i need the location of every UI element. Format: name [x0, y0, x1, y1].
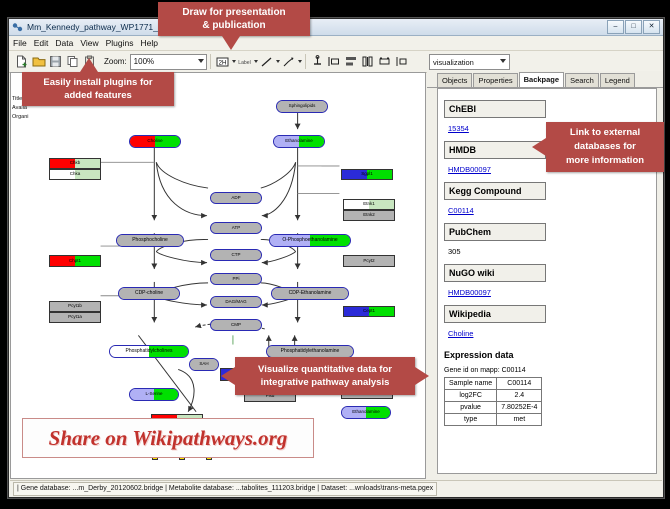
callout-links-line3: more information	[566, 154, 644, 168]
node-label: CMP	[231, 323, 241, 328]
node-label: O-Phosphoethanolamine	[282, 238, 337, 243]
pathway-node-etnk2[interactable]: Etnk2	[343, 210, 395, 221]
expression-gene-id: Gene id on mapp: C00114	[444, 367, 656, 374]
expression-data-heading: Expression data	[444, 350, 656, 360]
pathway-node-chka[interactable]: Chka	[49, 169, 101, 180]
node-label: Pcyt1b	[68, 304, 82, 309]
node-label: L-Serine	[145, 392, 162, 397]
expr-cell-key: Sample name	[445, 378, 497, 390]
pathway-node-l-serine[interactable]: L-Serine	[129, 388, 179, 401]
callout-draw-line1: Draw for presentation	[182, 6, 285, 19]
new-file-icon[interactable]	[13, 53, 30, 70]
svg-text:Label: Label	[238, 60, 250, 66]
callout-plugins-line2: added features	[43, 89, 152, 102]
toolbar-separator	[305, 54, 306, 69]
callout-links: Link to external databases for more info…	[546, 122, 664, 172]
node-label: Phosphocholine	[132, 238, 168, 243]
zoom-label: Zoom:	[104, 57, 127, 66]
callout-visualize: Visualize quantitative data for integrat…	[235, 357, 415, 395]
node-label: ATP	[232, 226, 240, 231]
callout-links-line1: Link to external	[566, 126, 644, 140]
pathway-node-cept1[interactable]: Cept1	[343, 306, 395, 317]
menu-item-edit[interactable]: Edit	[34, 38, 49, 48]
tab-search[interactable]: Search	[565, 73, 599, 87]
pathway-node-ctp[interactable]: CTP	[210, 249, 262, 261]
line-icon[interactable]	[258, 53, 275, 70]
pathway-node-o-phosphoethanolamine[interactable]: O-Phosphoethanolamine	[269, 234, 351, 247]
db-header-nugo: NuGO wiki	[444, 264, 546, 282]
pathway-node-ethanolamine[interactable]: Ethanolamine	[273, 135, 325, 148]
zoom-value: 100%	[134, 57, 154, 66]
pathway-node-phosphocholine[interactable]: Phosphocholine	[116, 234, 184, 247]
db-header-pubchem: PubChem	[444, 223, 546, 241]
table-row: log2FC 2.4	[445, 390, 542, 402]
pathway-node-cmp[interactable]: CMP	[210, 319, 262, 331]
chevron-down-icon	[198, 59, 204, 63]
align-left-icon[interactable]	[326, 53, 343, 70]
node-label: Chpt1	[69, 259, 81, 264]
callout-visualize-arrow-right	[415, 367, 429, 385]
db-link-wikipedia[interactable]: Choline	[448, 329, 473, 338]
callout-visualize-arrow-left	[221, 367, 235, 385]
node-label: Chkb	[70, 161, 81, 166]
callout-links-line2: databases for	[566, 140, 644, 154]
menu-item-data[interactable]: Data	[55, 38, 73, 48]
callout-visualize-line1: Visualize quantitative data for	[258, 363, 392, 376]
save-icon[interactable]	[47, 53, 64, 70]
pathway-node-chpt1[interactable]: Chpt1	[49, 255, 101, 267]
pathway-node-ethanolamine[interactable]: Ethanolamine	[341, 406, 391, 419]
db-header-hmdb: HMDB	[444, 141, 546, 159]
node-label: CDP-Ethanolamine	[289, 291, 332, 296]
menu-item-help[interactable]: Help	[141, 38, 158, 48]
close-button[interactable]: ✕	[643, 20, 660, 34]
group-icon[interactable]	[377, 53, 394, 70]
pathway-node-sphingolipids[interactable]: Sphingolipids	[276, 100, 328, 113]
maximize-button[interactable]: □	[625, 20, 642, 34]
pathway-node-phosphatidylcholines[interactable]: Phosphatidylcholines	[109, 345, 189, 358]
expr-cell-key: type	[445, 414, 497, 426]
table-row: type met	[445, 414, 542, 426]
pathway-node-pcyt1a[interactable]: Pcyt1a	[49, 312, 101, 323]
node-label: Cept1	[363, 309, 375, 314]
pathway-node-atp[interactable]: ATP	[210, 222, 262, 234]
status-text: | Gene database: ...m_Derby_20120602.bri…	[13, 482, 437, 496]
callout-visualize-line2: integrative pathway analysis	[258, 376, 392, 389]
node-label: Etnk1	[363, 202, 375, 207]
datanode-icon[interactable]: 2H	[214, 53, 231, 70]
distribute-icon[interactable]	[360, 53, 377, 70]
node-label: Phosphatidylethanolamine	[281, 349, 340, 354]
expr-cell-key: log2FC	[445, 390, 497, 402]
pathway-node-sgpl1[interactable]: Sgpl1	[341, 169, 393, 180]
svg-text:2H: 2H	[218, 60, 226, 66]
menu-item-view[interactable]: View	[80, 38, 98, 48]
expr-cell-val: C00114	[497, 378, 542, 390]
pathway-node-etnk1[interactable]: Etnk1	[343, 199, 395, 210]
pathway-node-ppi[interactable]: PPi	[210, 273, 262, 285]
expr-cell-val: 7.80252E-4	[497, 402, 542, 414]
node-label: SAH	[199, 362, 208, 367]
db-value-pubchem: 305	[448, 247, 461, 256]
callout-draw: Draw for presentation & publication	[158, 2, 310, 36]
callout-plugins-arrow	[80, 58, 98, 72]
node-label: ADP	[231, 196, 240, 201]
tab-objects[interactable]: Objects	[437, 73, 472, 87]
ungroup-icon[interactable]	[394, 53, 411, 70]
node-label: Ethanolamine	[352, 410, 380, 415]
db-header-wikipedia: Wikipedia	[444, 305, 546, 323]
db-link-kegg[interactable]: C00114	[448, 206, 474, 215]
pathway-node-sah[interactable]: SAH	[189, 358, 219, 371]
window-title-bar: Mm_Kennedy_pathway_WP1771_45176.gpml – □…	[9, 19, 663, 36]
callout-share: Share on Wikipathways.org	[22, 418, 314, 458]
node-label: DAG/MAG	[225, 300, 246, 305]
tab-backpage[interactable]: Backpage	[519, 72, 564, 87]
menu-bar: File Edit Data View Plugins Help	[9, 36, 663, 51]
toolbar-separator	[210, 54, 211, 69]
anchor-icon[interactable]	[309, 53, 326, 70]
label-tool[interactable]: Label	[236, 53, 258, 70]
node-label: Pcyt2	[363, 259, 374, 264]
db-link-chebi[interactable]: 15354	[448, 124, 469, 133]
node-label: Ethanolamine	[285, 139, 313, 144]
pathway-node-cdp-choline[interactable]: CDP-choline	[118, 287, 180, 300]
pathway-node-pcyt2[interactable]: Pcyt2	[343, 255, 395, 267]
db-header-kegg: Kegg Compound	[444, 182, 546, 200]
chevron-down-icon	[500, 59, 506, 63]
callout-share-text: Share on Wikipathways.org	[49, 426, 288, 451]
pathway-node-choline[interactable]: Choline	[129, 135, 181, 148]
chevron-down-icon[interactable]	[298, 60, 302, 63]
menu-item-plugins[interactable]: Plugins	[106, 38, 134, 48]
db-link-nugo[interactable]: HMDB00097	[448, 288, 491, 297]
node-label: CDP-choline	[135, 291, 163, 296]
node-label: Choline	[147, 139, 162, 144]
node-label: Sgpl1	[361, 172, 373, 177]
node-label: Pcyt1a	[68, 315, 82, 320]
copy-icon[interactable]	[64, 53, 81, 70]
callout-draw-arrow	[222, 36, 240, 50]
pathway-node-dag-mag[interactable]: DAG/MAG	[210, 296, 262, 308]
node-label: Phosphatidylcholines	[126, 349, 173, 354]
screenshot-root: Mm_Kennedy_pathway_WP1771_45176.gpml – □…	[0, 0, 670, 509]
window-controls: – □ ✕	[607, 20, 660, 34]
pathway-node-adp[interactable]: ADP	[210, 192, 262, 204]
pathvisio-icon	[12, 22, 23, 33]
callout-draw-line2: & publication	[182, 19, 285, 32]
arrow-line-icon[interactable]	[280, 53, 297, 70]
toolbar: Zoom: 100% 2H Label	[9, 51, 663, 73]
zoom-select[interactable]: 100%	[130, 54, 207, 70]
callout-plugins: Easily install plugins for added feature…	[22, 72, 174, 106]
node-label: Chka	[70, 172, 81, 177]
table-row: Sample name C00114	[445, 378, 542, 390]
db-header-chebi: ChEBI	[444, 100, 546, 118]
expr-cell-val: met	[497, 414, 542, 426]
label-icon[interactable]: Label	[236, 53, 253, 70]
db-link-hmdb[interactable]: HMDB00097	[448, 165, 491, 174]
side-panel-tabs: Objects Properties Backpage Search Legen…	[427, 71, 663, 88]
node-label: Sphingolipids	[289, 104, 316, 109]
align-center-icon[interactable]	[343, 53, 360, 70]
visualization-select[interactable]: visualization	[429, 54, 510, 70]
pathway-node-pcyt1b[interactable]: Pcyt1b	[49, 301, 101, 312]
node-label: Etnk2	[363, 213, 375, 218]
status-bar: | Gene database: ...m_Derby_20120602.bri…	[10, 480, 662, 496]
callout-links-arrow	[532, 138, 546, 156]
table-row: pvalue 7.80252E-4	[445, 402, 542, 414]
open-folder-icon[interactable]	[30, 53, 47, 70]
pathway-node-cdp-ethanolamine[interactable]: CDP-Ethanolamine	[271, 287, 349, 300]
expr-cell-key: pvalue	[445, 402, 497, 414]
tab-properties[interactable]: Properties	[473, 73, 517, 87]
menu-item-file[interactable]: File	[13, 38, 27, 48]
visualization-value: visualization	[433, 58, 474, 67]
callout-plugins-line1: Easily install plugins for	[43, 76, 152, 89]
line-tool[interactable]	[258, 53, 280, 70]
minimize-button[interactable]: –	[607, 20, 624, 34]
expression-table: Sample name C00114 log2FC 2.4 pvalue 7.8…	[444, 377, 542, 426]
node-label: PPi	[232, 277, 239, 282]
arrow-line-tool[interactable]	[280, 53, 302, 70]
pathway-node-chkb[interactable]: Chkb	[49, 158, 101, 169]
node-label: CTP	[232, 253, 241, 258]
tab-legend[interactable]: Legend	[600, 73, 635, 87]
datanode-tool[interactable]: 2H	[214, 53, 236, 70]
expr-cell-val: 2.4	[497, 390, 542, 402]
